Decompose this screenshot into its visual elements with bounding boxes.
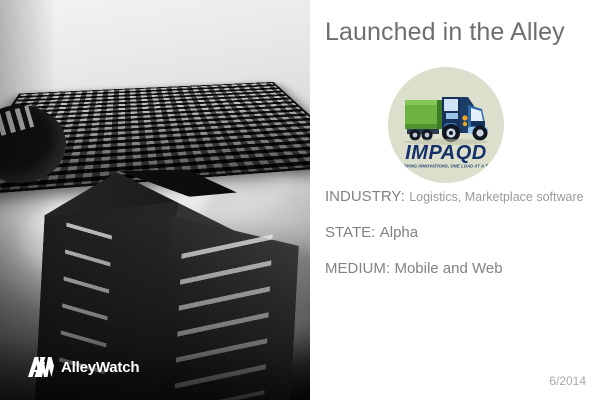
alleywatch-monogram-icon	[28, 356, 54, 378]
hero-photo: AlleyWatch	[0, 0, 310, 400]
detail-row-state: STATE: Alpha	[325, 224, 600, 242]
slide-canvas: AlleyWatch Launched in the Alley	[0, 0, 600, 400]
detail-label: INDUSTRY:	[325, 188, 405, 205]
content-panel: Launched in the Alley	[310, 0, 600, 400]
detail-row-industry: INDUSTRY: Logistics, Marketplace softwar…	[325, 188, 600, 206]
alleywatch-wordmark: AlleyWatch	[61, 360, 139, 375]
detail-label: MEDIUM:	[325, 260, 390, 277]
alleywatch-logo: AlleyWatch	[28, 356, 139, 378]
detail-label: STATE:	[325, 224, 375, 241]
detail-value: Mobile and Web	[394, 260, 502, 277]
svg-text:IMPAQD: IMPAQD	[405, 142, 487, 164]
svg-text:SHIPPING INNOVATIONS, ONE LOAD: SHIPPING INNOVATIONS, ONE LOAD AT A TIME	[396, 164, 495, 169]
impaqd-logo-icon: IMPAQD SHIPPING INNOVATIONS, ONE LOAD AT…	[388, 67, 504, 183]
detail-list: INDUSTRY: Logistics, Marketplace softwar…	[325, 188, 600, 296]
detail-row-medium: MEDIUM: Mobile and Web	[325, 260, 600, 278]
detail-value: Logistics, Marketplace software	[409, 190, 583, 204]
slide-title: Launched in the Alley	[325, 18, 565, 47]
slide-date: 6/2014	[549, 374, 586, 388]
company-logo-badge: IMPAQD SHIPPING INNOVATIONS, ONE LOAD AT…	[388, 67, 504, 183]
window-grid-right	[173, 234, 273, 400]
detail-value: Alpha	[380, 224, 418, 241]
